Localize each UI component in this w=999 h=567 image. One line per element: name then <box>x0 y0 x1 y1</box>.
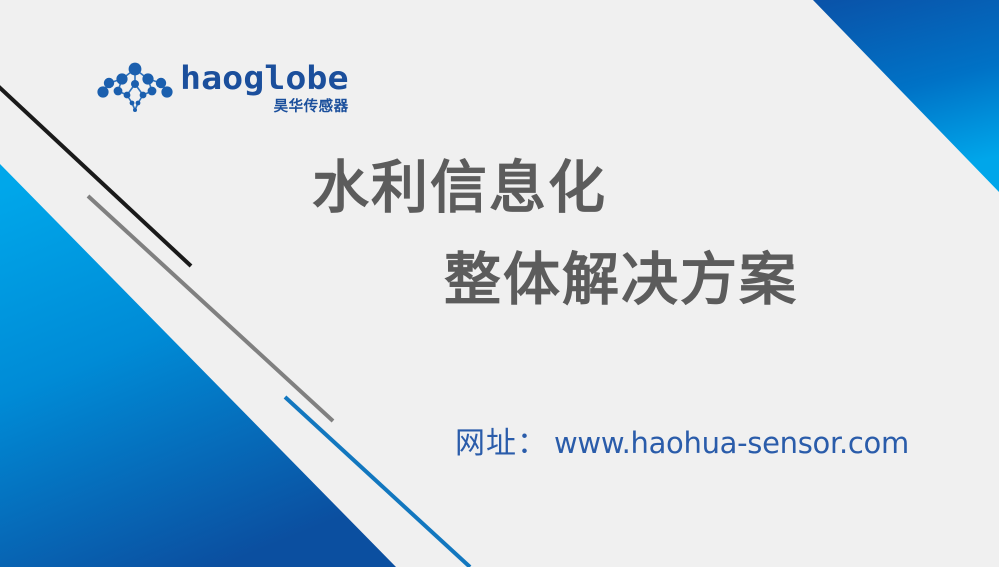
website-url[interactable]: 网址： www.haohua-sensor.com <box>455 418 909 462</box>
logo-subtitle: 昊华传感器 <box>274 100 349 115</box>
title-line-2: 整体解决方案 <box>0 252 999 309</box>
blue-diagonal-line <box>285 397 470 567</box>
website-url-value[interactable]: www.haohua-sensor.com <box>554 426 909 460</box>
company-logo[interactable]: haoglobe 昊华传感器 <box>96 57 311 119</box>
title-line-1: 水利信息化 <box>0 160 999 217</box>
network-nodes-icon <box>96 59 174 117</box>
presentation-title-slide: haoglobe 昊华传感器 水利信息化 整体解决方案 网址： www.haoh… <box>0 0 999 567</box>
logo-wordmark: haoglobe <box>180 63 349 95</box>
page-title: 水利信息化 整体解决方案 <box>0 160 999 309</box>
logo-text-group: haoglobe 昊华传感器 <box>180 62 349 115</box>
website-url-label: 网址： <box>455 418 548 462</box>
